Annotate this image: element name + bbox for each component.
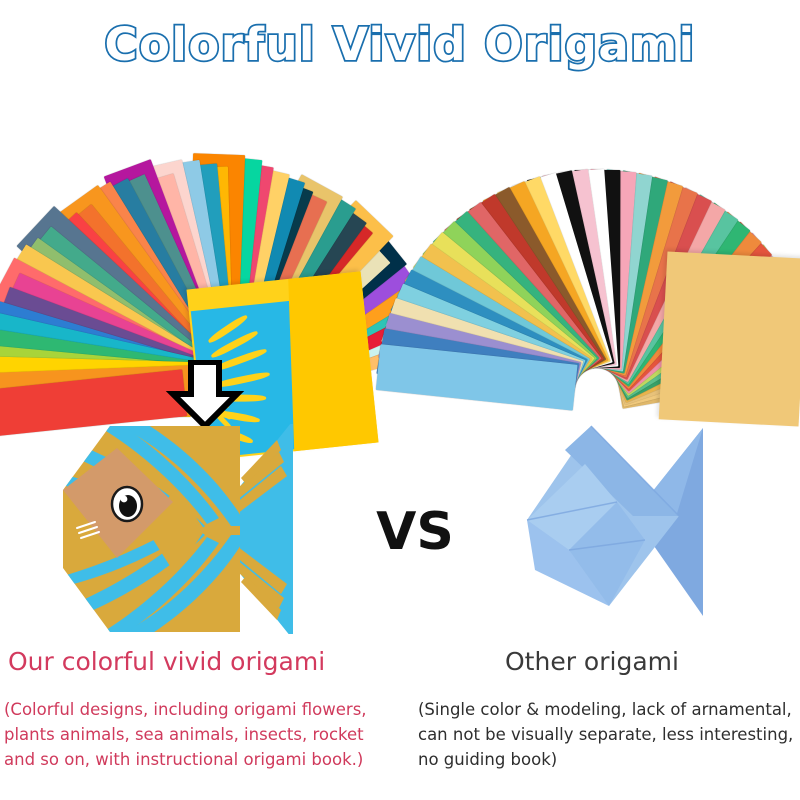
left-description-line: plants animals, sea animals, insects, ro… — [4, 722, 399, 747]
versus-label: VS — [360, 502, 470, 562]
right-description-line: no guiding book) — [418, 747, 800, 772]
solid-color-paper-fan — [415, 100, 800, 390]
left-description: (Colorful designs, including origami flo… — [4, 697, 399, 772]
plain-blue-origami-model — [525, 420, 715, 630]
left-heading: Our colorful vivid origami — [8, 647, 325, 676]
plain-tan-sheet — [659, 251, 800, 426]
title-banner: Colorful Vivid Origami — [0, 18, 800, 71]
left-description-line: and so on, with instructional origami bo… — [4, 747, 399, 772]
angelfish-origami-model — [55, 418, 295, 643]
left-description-line: (Colorful designs, including origami flo… — [4, 697, 399, 722]
page-title: Colorful Vivid Origami — [104, 18, 695, 71]
right-description-line: can not be visually separate, less inter… — [418, 722, 800, 747]
colorful-printed-paper-fan — [0, 95, 400, 395]
product-comparison-image: Colorful Vivid Origami — [0, 0, 800, 800]
right-description-line: (Single color & modeling, lack of arname… — [418, 697, 800, 722]
right-heading: Other origami — [505, 647, 679, 676]
right-description: (Single color & modeling, lack of arname… — [418, 697, 800, 772]
